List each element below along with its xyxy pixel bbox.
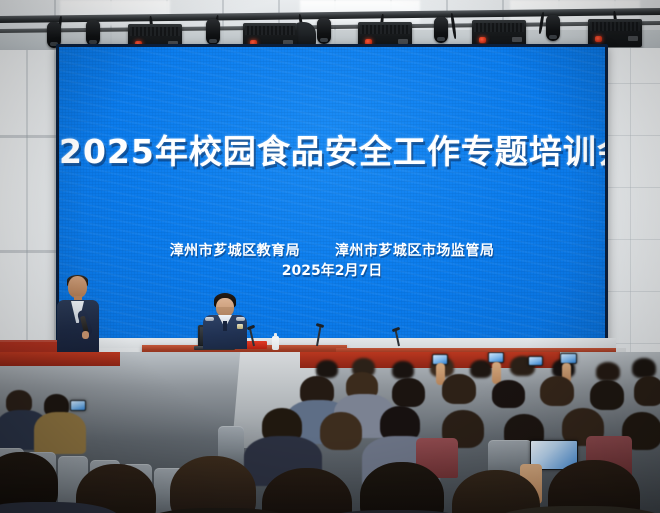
audience-phone [528, 356, 543, 366]
far-balcony-trim [0, 352, 120, 366]
audience-head-foreground [170, 456, 256, 513]
presentation-organizers: 漳州市芗城区教育局 漳州市芗城区市场监管局 [59, 240, 605, 260]
stage-light-fixture [317, 18, 331, 44]
auditorium-photo: 2025年校园食品安全工作专题培训会 漳州市芗城区教育局 漳州市芗城区市场监管局… [0, 0, 660, 513]
led-screen-frame: 2025年校园食品安全工作专题培训会 漳州市芗城区教育局 漳州市芗城区市场监管局… [56, 44, 608, 350]
stage-light-fixture [86, 20, 100, 46]
audience-head [632, 358, 656, 378]
stage-light-fixture [546, 15, 560, 41]
officer-epaulet-right [236, 317, 245, 321]
stage-light-box [588, 19, 642, 47]
audience-head [540, 376, 574, 406]
audience-phone [70, 400, 86, 411]
officer-badge [237, 324, 243, 329]
seated-officer [203, 293, 247, 349]
officer-tie [223, 321, 227, 331]
audience-head [320, 412, 362, 450]
audience-shoulders [34, 412, 86, 454]
audience-head [442, 374, 476, 404]
presentation-title: 2025年校园食品安全工作专题培训会 [59, 125, 605, 173]
audience-head [596, 362, 620, 381]
organizer-education-bureau: 漳州市芗城区教育局 [170, 240, 301, 260]
organizer-market-supervision: 漳州市芗城区市场监管局 [335, 240, 495, 260]
audience-head [634, 376, 660, 406]
audience-head [492, 380, 525, 408]
presenter-hand [82, 331, 89, 339]
stage-light-fixture [434, 17, 448, 43]
audience-area [0, 352, 660, 513]
audience-head [590, 380, 624, 410]
stage-light-fixture [206, 19, 220, 45]
presenter-head [68, 276, 87, 298]
led-screen: 2025年校园食品安全工作专题培训会 漳州市芗城区教育局 漳州市芗城区市场监管局… [59, 47, 605, 347]
audience-head [392, 361, 414, 379]
presentation-date: 2025年2月7日 [59, 260, 605, 280]
officer-epaulet-left [205, 317, 214, 321]
audience-head [392, 378, 425, 407]
water-bottle [272, 336, 279, 350]
